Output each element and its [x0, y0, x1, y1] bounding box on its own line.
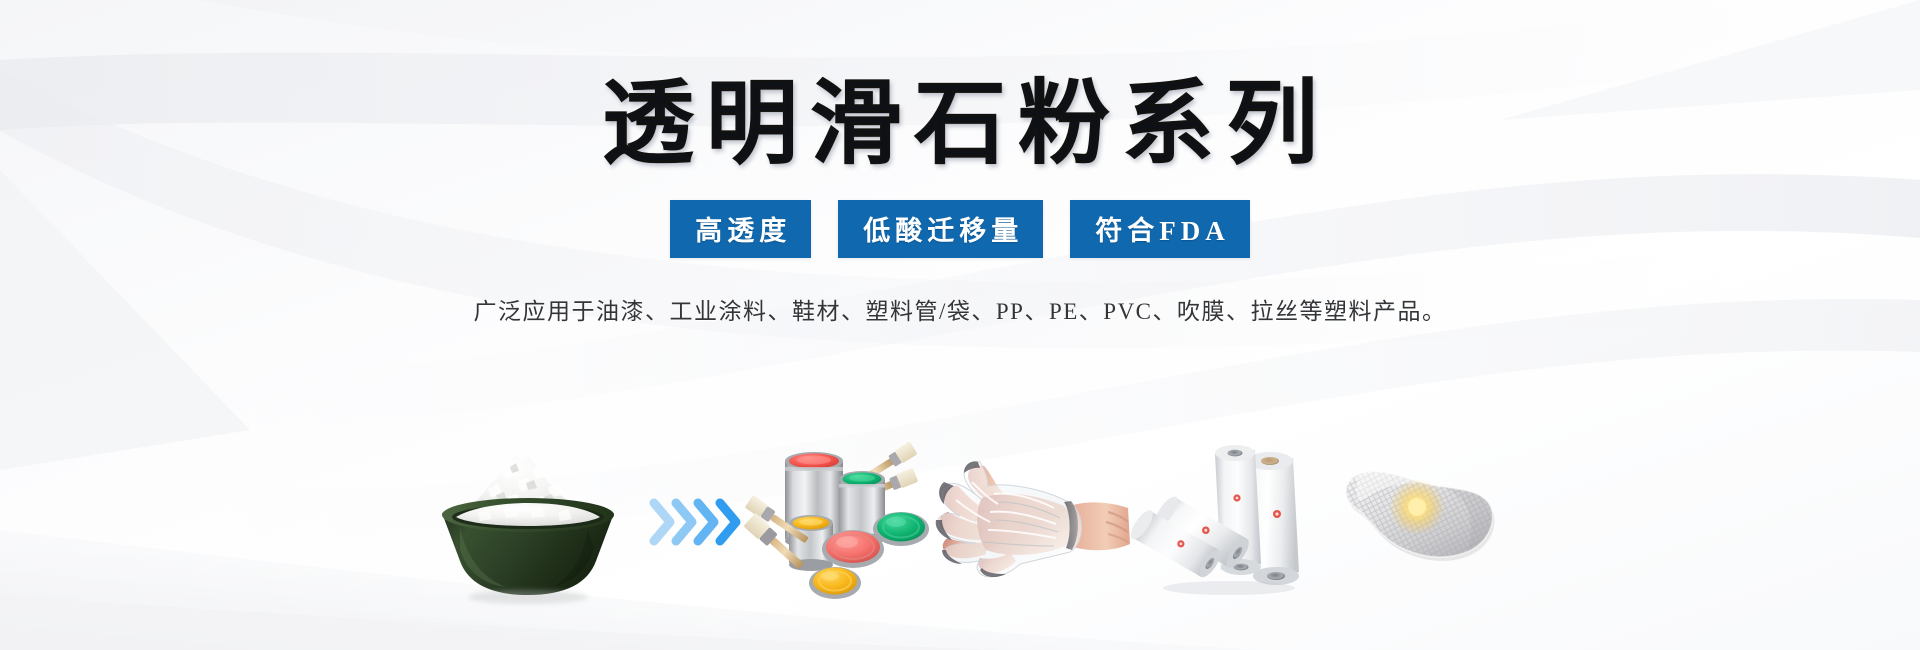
- talc-powder-bowl-image: [413, 432, 643, 612]
- plastic-film-rolls-image: [1138, 432, 1318, 612]
- paint-cans-image: [758, 432, 933, 612]
- plastic-glove-image: [933, 432, 1138, 612]
- shoe-insole-image: [1318, 432, 1508, 612]
- badge-low-acid-migration[interactable]: 低酸迁移量: [838, 200, 1043, 258]
- product-image-strip: [0, 432, 1920, 612]
- badge-high-transparency[interactable]: 高透度: [670, 200, 811, 258]
- page-title: 透明滑石粉系列: [590, 78, 1330, 170]
- process-arrows-icon: [643, 432, 758, 612]
- feature-badge-list: 高透度 低酸迁移量 符合FDA: [670, 200, 1250, 258]
- application-description: 广泛应用于油漆、工业涂料、鞋材、塑料管/袋、PP、PE、PVC、吹膜、拉丝等塑料…: [473, 292, 1446, 326]
- badge-fda-compliant[interactable]: 符合FDA: [1070, 200, 1250, 258]
- product-banner: 透明滑石粉系列 高透度 低酸迁移量 符合FDA 广泛应用于油漆、工业涂料、鞋材、…: [0, 0, 1920, 650]
